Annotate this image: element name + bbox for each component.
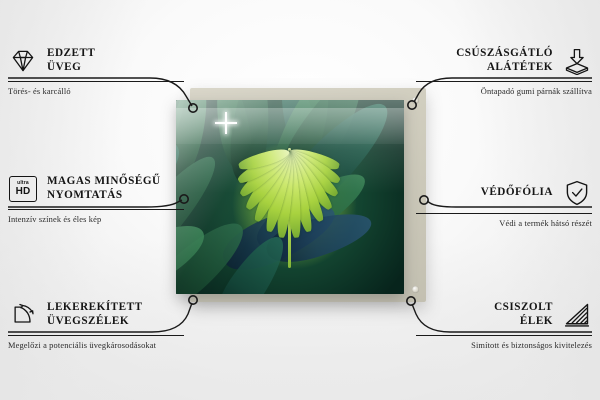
feature-title: CSÚSZÁSGÁTLÓALÁTÉTEK [456,47,553,74]
feature-rounded-glass-edges[interactable]: LEKEREKÍTETTÜVEGSZÉLEK Megelőzi a potenc… [8,298,184,351]
glass-panel [176,100,404,294]
hatched-triangle-icon [562,300,592,330]
press-pad-icon [562,46,592,76]
feature-title: LEKEREKÍTETTÜVEGSZÉLEK [47,301,143,328]
leaf-artwork [176,100,404,294]
feature-description: Simított és biztonságos kivitelezés [416,340,592,351]
feature-tempered-glass[interactable]: EDZETTÜVEG Törés- és karcálló [8,44,184,97]
feature-description: Öntapadó gumi párnák szállítva [416,86,592,97]
feature-title: EDZETTÜVEG [47,47,95,74]
feature-description: Intenzív színek és éles kép [8,214,184,225]
mounting-screw-icon [412,97,419,104]
divider [8,81,184,82]
feature-title: VÉDŐFÓLIA [481,186,553,200]
mounting-screw-icon [412,286,419,293]
feature-protective-film[interactable]: VÉDŐFÓLIA Védi a termék hátsó részét [416,176,592,229]
divider [416,81,592,82]
feature-description: Védi a termék hátsó részét [416,218,592,229]
shield-check-icon [562,178,592,208]
monstera-leaf [230,146,348,272]
feature-polished-edges[interactable]: CSISZOLTÉLEK Simított és biztonságos kiv… [416,298,592,351]
divider [416,335,592,336]
divider [8,335,184,336]
feature-title: CSISZOLTÉLEK [494,301,553,328]
feature-title: MAGAS MINŐSÉGŰNYOMTATÁS [47,175,161,202]
ultra-hd-icon: ultra HD [8,174,38,204]
divider [8,209,184,210]
feature-description: Törés- és karcálló [8,86,184,97]
feature-anti-slip-pads[interactable]: CSÚSZÁSGÁTLÓALÁTÉTEK Öntapadó gumi párná… [416,44,592,97]
rounded-corner-icon [8,300,38,330]
feature-description: Megelőzi a potenciális üvegkárosodásokat [8,340,184,351]
divider [416,213,592,214]
product-image [176,88,426,306]
feature-high-quality-print[interactable]: ultra HD MAGAS MINŐSÉGŰNYOMTATÁS Intenzí… [8,172,184,225]
diamond-icon [8,46,38,76]
product-infographic: EDZETTÜVEG Törés- és karcálló ultra HD M… [0,0,600,400]
